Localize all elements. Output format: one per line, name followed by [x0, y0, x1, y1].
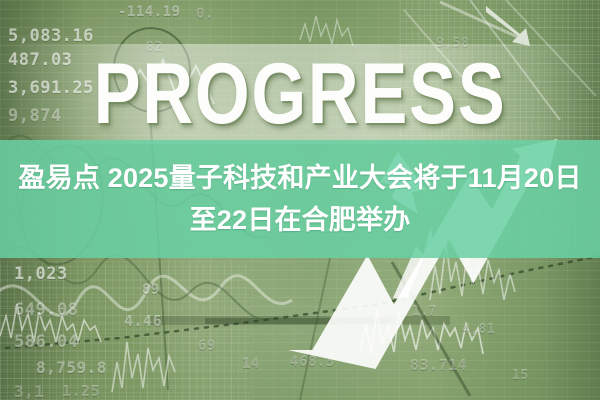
- banner-image: 5,083.16487.033,691.259,874-114.190.821,…: [0, 0, 600, 400]
- caption-text: 盈易点 2025量子科技和产业大会将于11月20日 至22日在合肥举办: [0, 140, 600, 258]
- caption-line-2: 至22日在合肥举办: [190, 200, 411, 240]
- headline-progress: PROGRESS: [54, 46, 546, 142]
- caption-line-1: 盈易点 2025量子科技和产业大会将于11月20日: [18, 158, 581, 198]
